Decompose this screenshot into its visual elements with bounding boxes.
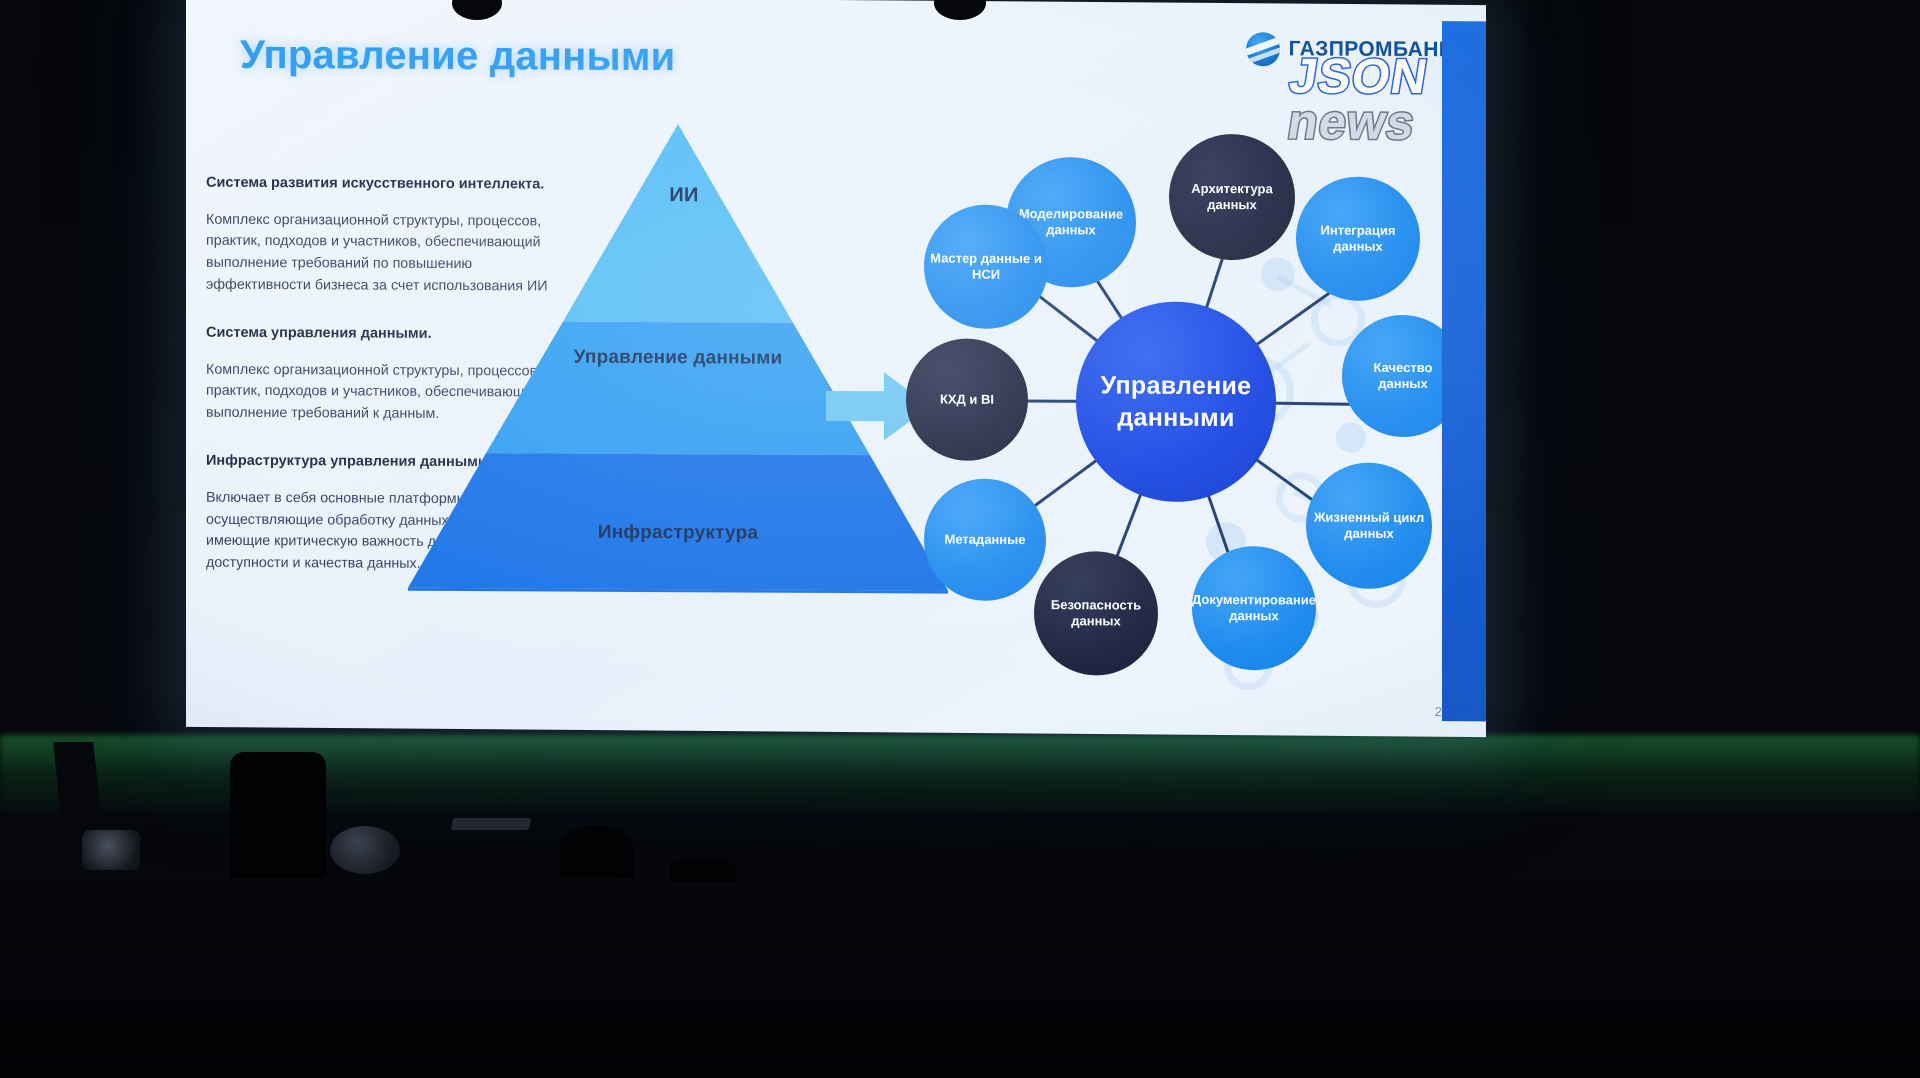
stage-light-left (82, 830, 140, 870)
stage-light-center (330, 826, 400, 874)
network-node-data-security[interactable]: Безопасность данных (1034, 551, 1158, 676)
screen-edge-panel (1442, 21, 1486, 721)
network-node-master-data[interactable]: Мастер данные и НСИ (924, 204, 1048, 329)
network-node-dwh-bi[interactable]: КХД и BI (906, 338, 1028, 461)
pyramid-label-ai: ИИ (414, 183, 954, 209)
laptop-silhouette (451, 818, 532, 830)
network-node-metadata[interactable]: Метаданные (924, 478, 1046, 601)
slide-title: Управление данными (240, 33, 675, 80)
data-management-network-diagram: Управление данными Моделирование данных … (886, 110, 1466, 693)
network-node-data-lifecycle[interactable]: Жизненный цикл данных (1306, 462, 1432, 589)
audience-head-1 (560, 826, 634, 878)
network-node-data-architecture[interactable]: Архитектура данных (1169, 134, 1295, 261)
projection-screen: Управление данными ГАЗПРОМБАНК JSON news… (186, 0, 1486, 737)
audience-head-2 (670, 858, 736, 882)
pyramid-label-data-management: Управление данными (408, 346, 948, 371)
pyramid-label-infrastructure: Инфраструктура (408, 521, 948, 546)
network-node-data-documentation[interactable]: Документирование данных (1192, 546, 1316, 671)
network-node-data-integration[interactable]: Интеграция данных (1296, 176, 1420, 301)
equipment-silhouette (230, 752, 326, 878)
network-center-node[interactable]: Управление данными (1076, 301, 1276, 502)
page-number: 2 (1435, 704, 1442, 719)
